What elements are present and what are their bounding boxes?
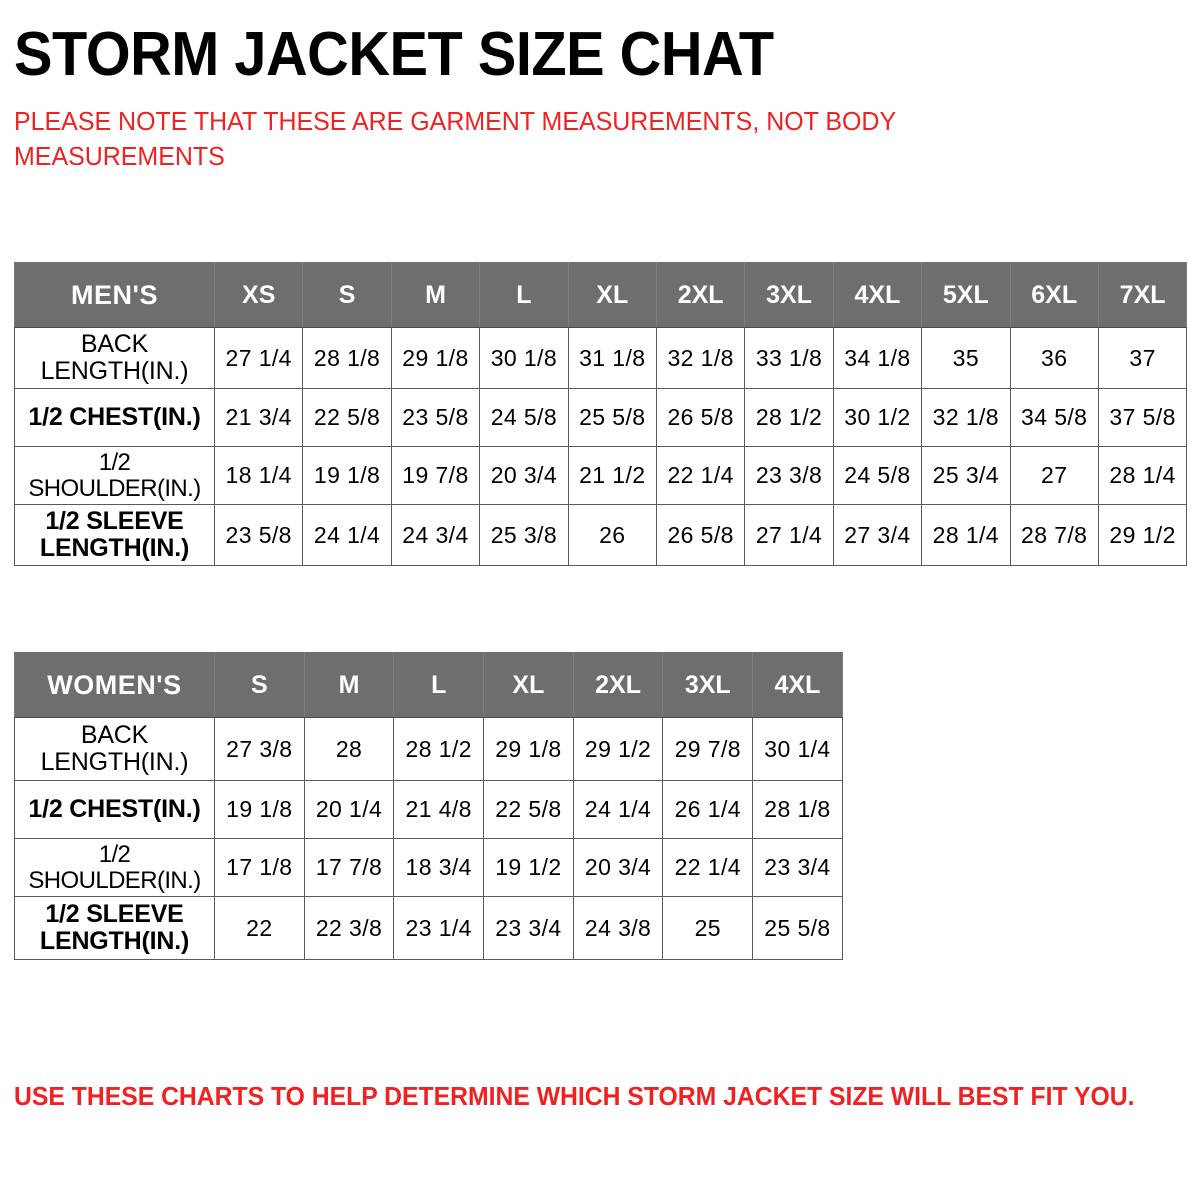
womens-size-header: 4XL bbox=[753, 653, 843, 718]
mens-size-header: XL bbox=[568, 263, 656, 328]
mens-measurement-cell: 23 5/8 bbox=[391, 389, 479, 447]
mens-measurement-cell: 24 1/4 bbox=[303, 505, 391, 566]
mens-measurement-cell: 34 5/8 bbox=[1010, 389, 1098, 447]
womens-measurement-cell: 17 1/8 bbox=[215, 839, 305, 897]
womens-measurement-cell: 21 4/8 bbox=[394, 781, 484, 839]
table-row: 1/2 SLEEVELENGTH(IN.)23 5/824 1/424 3/42… bbox=[15, 505, 1187, 566]
mens-measurement-cell: 28 1/2 bbox=[745, 389, 833, 447]
mens-measurement-cell: 25 3/8 bbox=[480, 505, 568, 566]
mens-size-table: MEN'SXSSMLXL2XL3XL4XL5XL6XL7XL BACKLENGT… bbox=[14, 262, 1187, 566]
womens-measurement-cell: 19 1/8 bbox=[215, 781, 305, 839]
mens-measurement-cell: 37 5/8 bbox=[1098, 389, 1186, 447]
womens-row-label: BACKLENGTH(IN.) bbox=[15, 718, 215, 781]
womens-size-header: L bbox=[394, 653, 484, 718]
womens-measurement-cell: 28 bbox=[304, 718, 394, 781]
womens-measurement-cell: 26 1/4 bbox=[663, 781, 753, 839]
womens-measurement-cell: 29 1/2 bbox=[573, 718, 663, 781]
mens-corner-label: MEN'S bbox=[15, 263, 215, 328]
row-label-line-1: BACK bbox=[81, 721, 148, 749]
womens-measurement-cell: 23 1/4 bbox=[394, 897, 484, 960]
womens-measurement-cell: 28 1/2 bbox=[394, 718, 484, 781]
womens-header-row: WOMEN'SSMLXL2XL3XL4XL bbox=[15, 653, 843, 718]
row-label-line-2: LENGTH(IN.) bbox=[40, 927, 189, 955]
mens-measurement-cell: 19 1/8 bbox=[303, 447, 391, 505]
size-chart-page: STORM JACKET SIZE CHAT PLEASE NOTE THAT … bbox=[0, 0, 1200, 1200]
womens-measurement-cell: 20 3/4 bbox=[573, 839, 663, 897]
mens-size-header: L bbox=[480, 263, 568, 328]
womens-table-body: BACKLENGTH(IN.)27 3/82828 1/229 1/829 1/… bbox=[15, 718, 843, 960]
mens-size-header: 7XL bbox=[1098, 263, 1186, 328]
mens-measurement-cell: 18 1/4 bbox=[215, 447, 303, 505]
mens-size-header: XS bbox=[215, 263, 303, 328]
womens-measurement-cell: 22 3/8 bbox=[304, 897, 394, 960]
womens-measurement-cell: 23 3/4 bbox=[484, 897, 574, 960]
mens-measurement-cell: 28 1/4 bbox=[1098, 447, 1186, 505]
mens-measurement-cell: 26 bbox=[568, 505, 656, 566]
womens-measurement-cell: 29 1/8 bbox=[484, 718, 574, 781]
mens-measurement-cell: 28 1/4 bbox=[922, 505, 1010, 566]
womens-measurement-cell: 28 1/8 bbox=[753, 781, 843, 839]
row-label-line-1: 1/2 SLEEVE bbox=[45, 507, 183, 535]
mens-measurement-cell: 35 bbox=[922, 328, 1010, 389]
mens-row-label: 1/2 SLEEVELENGTH(IN.) bbox=[15, 505, 215, 566]
mens-measurement-cell: 24 3/4 bbox=[391, 505, 479, 566]
mens-row-label: 1/2 SHOULDER(IN.) bbox=[15, 447, 215, 505]
womens-size-header: S bbox=[215, 653, 305, 718]
mens-measurement-cell: 27 1/4 bbox=[215, 328, 303, 389]
womens-size-header: XL bbox=[484, 653, 574, 718]
mens-measurement-cell: 20 3/4 bbox=[480, 447, 568, 505]
row-label-line-1: 1/2 SLEEVE bbox=[45, 900, 183, 928]
table-row: 1/2 CHEST(IN.)19 1/820 1/421 4/822 5/824… bbox=[15, 781, 843, 839]
mens-measurement-cell: 29 1/2 bbox=[1098, 505, 1186, 566]
mens-measurement-cell: 19 7/8 bbox=[391, 447, 479, 505]
page-title: STORM JACKET SIZE CHAT bbox=[14, 0, 1104, 86]
mens-measurement-cell: 26 5/8 bbox=[656, 389, 744, 447]
row-label-line-2: LENGTH(IN.) bbox=[41, 357, 189, 385]
mens-table-body: BACKLENGTH(IN.)27 1/428 1/829 1/830 1/83… bbox=[15, 328, 1187, 566]
mens-header-row: MEN'SXSSMLXL2XL3XL4XL5XL6XL7XL bbox=[15, 263, 1187, 328]
mens-size-header: 2XL bbox=[656, 263, 744, 328]
womens-row-label: 1/2 CHEST(IN.) bbox=[15, 781, 215, 839]
mens-measurement-cell: 28 1/8 bbox=[303, 328, 391, 389]
mens-row-label: BACKLENGTH(IN.) bbox=[15, 328, 215, 389]
mens-measurement-cell: 27 bbox=[1010, 447, 1098, 505]
mens-measurement-cell: 27 3/4 bbox=[833, 505, 921, 566]
womens-measurement-cell: 22 1/4 bbox=[663, 839, 753, 897]
row-label-line-1: BACK bbox=[81, 330, 148, 358]
womens-measurement-cell: 20 1/4 bbox=[304, 781, 394, 839]
mens-measurement-cell: 32 1/8 bbox=[656, 328, 744, 389]
garment-measurement-note: PLEASE NOTE THAT THESE ARE GARMENT MEASU… bbox=[14, 104, 936, 174]
mens-measurement-cell: 21 1/2 bbox=[568, 447, 656, 505]
mens-size-header: M bbox=[391, 263, 479, 328]
table-row: 1/2 SHOULDER(IN.)17 1/817 7/818 3/419 1/… bbox=[15, 839, 843, 897]
womens-measurement-cell: 22 bbox=[215, 897, 305, 960]
table-row: BACKLENGTH(IN.)27 3/82828 1/229 1/829 1/… bbox=[15, 718, 843, 781]
womens-size-header: 3XL bbox=[663, 653, 753, 718]
womens-measurement-cell: 24 3/8 bbox=[573, 897, 663, 960]
mens-measurement-cell: 24 5/8 bbox=[480, 389, 568, 447]
womens-table-head: WOMEN'SSMLXL2XL3XL4XL bbox=[15, 653, 843, 718]
table-row: 1/2 CHEST(IN.)21 3/422 5/823 5/824 5/825… bbox=[15, 389, 1187, 447]
table-row: 1/2 SLEEVELENGTH(IN.)2222 3/823 1/423 3/… bbox=[15, 897, 843, 960]
womens-size-chart: WOMEN'SSMLXL2XL3XL4XL BACKLENGTH(IN.)27 … bbox=[14, 652, 843, 960]
mens-measurement-cell: 21 3/4 bbox=[215, 389, 303, 447]
mens-measurement-cell: 36 bbox=[1010, 328, 1098, 389]
womens-measurement-cell: 23 3/4 bbox=[753, 839, 843, 897]
mens-measurement-cell: 29 1/8 bbox=[391, 328, 479, 389]
mens-measurement-cell: 32 1/8 bbox=[922, 389, 1010, 447]
row-label-line-2: LENGTH(IN.) bbox=[40, 534, 189, 562]
mens-measurement-cell: 22 5/8 bbox=[303, 389, 391, 447]
womens-size-header: M bbox=[304, 653, 394, 718]
womens-row-label: 1/2 SLEEVELENGTH(IN.) bbox=[15, 897, 215, 960]
mens-measurement-cell: 24 5/8 bbox=[833, 447, 921, 505]
mens-table-head: MEN'SXSSMLXL2XL3XL4XL5XL6XL7XL bbox=[15, 263, 1187, 328]
mens-size-header: 5XL bbox=[922, 263, 1010, 328]
womens-size-table: WOMEN'SSMLXL2XL3XL4XL BACKLENGTH(IN.)27 … bbox=[14, 652, 843, 960]
mens-measurement-cell: 33 1/8 bbox=[745, 328, 833, 389]
mens-size-header: S bbox=[303, 263, 391, 328]
womens-measurement-cell: 19 1/2 bbox=[484, 839, 574, 897]
womens-measurement-cell: 25 5/8 bbox=[753, 897, 843, 960]
mens-measurement-cell: 25 5/8 bbox=[568, 389, 656, 447]
table-row: BACKLENGTH(IN.)27 1/428 1/829 1/830 1/83… bbox=[15, 328, 1187, 389]
womens-measurement-cell: 22 5/8 bbox=[484, 781, 574, 839]
mens-measurement-cell: 25 3/4 bbox=[922, 447, 1010, 505]
womens-measurement-cell: 17 7/8 bbox=[304, 839, 394, 897]
womens-measurement-cell: 29 7/8 bbox=[663, 718, 753, 781]
mens-measurement-cell: 37 bbox=[1098, 328, 1186, 389]
mens-measurement-cell: 22 1/4 bbox=[656, 447, 744, 505]
womens-corner-label: WOMEN'S bbox=[15, 653, 215, 718]
womens-row-label: 1/2 SHOULDER(IN.) bbox=[15, 839, 215, 897]
womens-measurement-cell: 27 3/8 bbox=[215, 718, 305, 781]
mens-size-header: 6XL bbox=[1010, 263, 1098, 328]
mens-measurement-cell: 26 5/8 bbox=[656, 505, 744, 566]
mens-measurement-cell: 34 1/8 bbox=[833, 328, 921, 389]
mens-measurement-cell: 23 3/8 bbox=[745, 447, 833, 505]
mens-size-header: 3XL bbox=[745, 263, 833, 328]
womens-size-header: 2XL bbox=[573, 653, 663, 718]
mens-measurement-cell: 28 7/8 bbox=[1010, 505, 1098, 566]
womens-measurement-cell: 25 bbox=[663, 897, 753, 960]
mens-measurement-cell: 27 1/4 bbox=[745, 505, 833, 566]
mens-row-label: 1/2 CHEST(IN.) bbox=[15, 389, 215, 447]
mens-measurement-cell: 23 5/8 bbox=[215, 505, 303, 566]
womens-measurement-cell: 24 1/4 bbox=[573, 781, 663, 839]
mens-measurement-cell: 30 1/8 bbox=[480, 328, 568, 389]
table-row: 1/2 SHOULDER(IN.)18 1/419 1/819 7/820 3/… bbox=[15, 447, 1187, 505]
womens-measurement-cell: 18 3/4 bbox=[394, 839, 484, 897]
mens-size-chart: MEN'SXSSMLXL2XL3XL4XL5XL6XL7XL BACKLENGT… bbox=[14, 262, 1187, 566]
fit-guidance-note: USE THESE CHARTS TO HELP DETERMINE WHICH… bbox=[14, 1082, 1135, 1113]
mens-measurement-cell: 30 1/2 bbox=[833, 389, 921, 447]
mens-size-header: 4XL bbox=[833, 263, 921, 328]
womens-measurement-cell: 30 1/4 bbox=[753, 718, 843, 781]
row-label-line-2: LENGTH(IN.) bbox=[41, 748, 189, 776]
mens-measurement-cell: 31 1/8 bbox=[568, 328, 656, 389]
